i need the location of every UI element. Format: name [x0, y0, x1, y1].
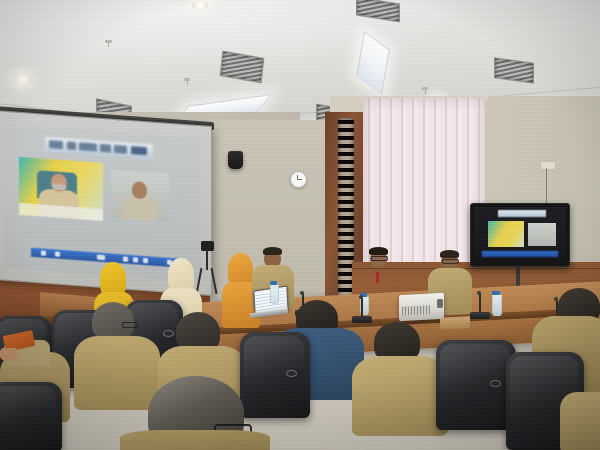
attendee-back-glasses-torso — [74, 336, 160, 410]
hand — [0, 348, 18, 360]
ceiling-sprinkler — [422, 87, 428, 90]
ceiling-downlight — [192, 0, 208, 10]
conference-chair[interactable] — [436, 340, 516, 430]
video-tile-main — [19, 157, 103, 221]
conference-chair[interactable] — [240, 332, 310, 418]
hair — [369, 247, 388, 255]
wall-speaker-icon — [228, 151, 243, 169]
tv-video-tile-secondary — [528, 223, 556, 246]
projected-image — [5, 124, 201, 282]
attendee-foreground-torso — [120, 430, 270, 450]
tv-video-tile-main — [488, 221, 524, 247]
bottle-cap — [270, 281, 277, 285]
tripod-pole — [206, 250, 208, 270]
video-tile-secondary — [111, 170, 169, 222]
projected-app-toolbar — [45, 137, 153, 160]
meeting-room-photo — [0, 0, 600, 450]
glasses-icon — [371, 256, 388, 261]
wooden-name-block — [440, 316, 470, 330]
power-outlet-icon — [540, 161, 556, 170]
attendee-back-glasses-head — [92, 302, 134, 340]
water-bottle — [492, 294, 502, 316]
attendee-foreground-right-torso — [560, 392, 600, 450]
projector-vent — [402, 305, 430, 315]
wall-clock-icon — [290, 171, 307, 188]
conference-chair[interactable] — [0, 382, 62, 450]
glasses-icon — [122, 322, 138, 328]
tv-app-toolbar — [498, 210, 546, 217]
glasses-icon — [442, 259, 459, 264]
ceiling-downlight — [14, 74, 31, 85]
woman-hijab-yellow — [100, 262, 126, 296]
woman-hijab-cream — [168, 258, 194, 292]
attendee-back-right-khaki-torso — [352, 356, 448, 436]
projector-lens — [437, 299, 443, 308]
water-bottle — [270, 284, 279, 304]
wall-tv-monitor — [470, 203, 570, 267]
lanyard — [376, 272, 379, 283]
bottle-cap — [492, 291, 500, 295]
hair — [263, 247, 282, 255]
ceiling-sprinkler — [184, 78, 190, 81]
outlet-cable — [546, 168, 547, 208]
tv-taskbar — [482, 251, 558, 257]
hair — [440, 250, 459, 258]
ceiling-sprinkler — [105, 40, 112, 43]
tv-screen — [474, 207, 566, 259]
